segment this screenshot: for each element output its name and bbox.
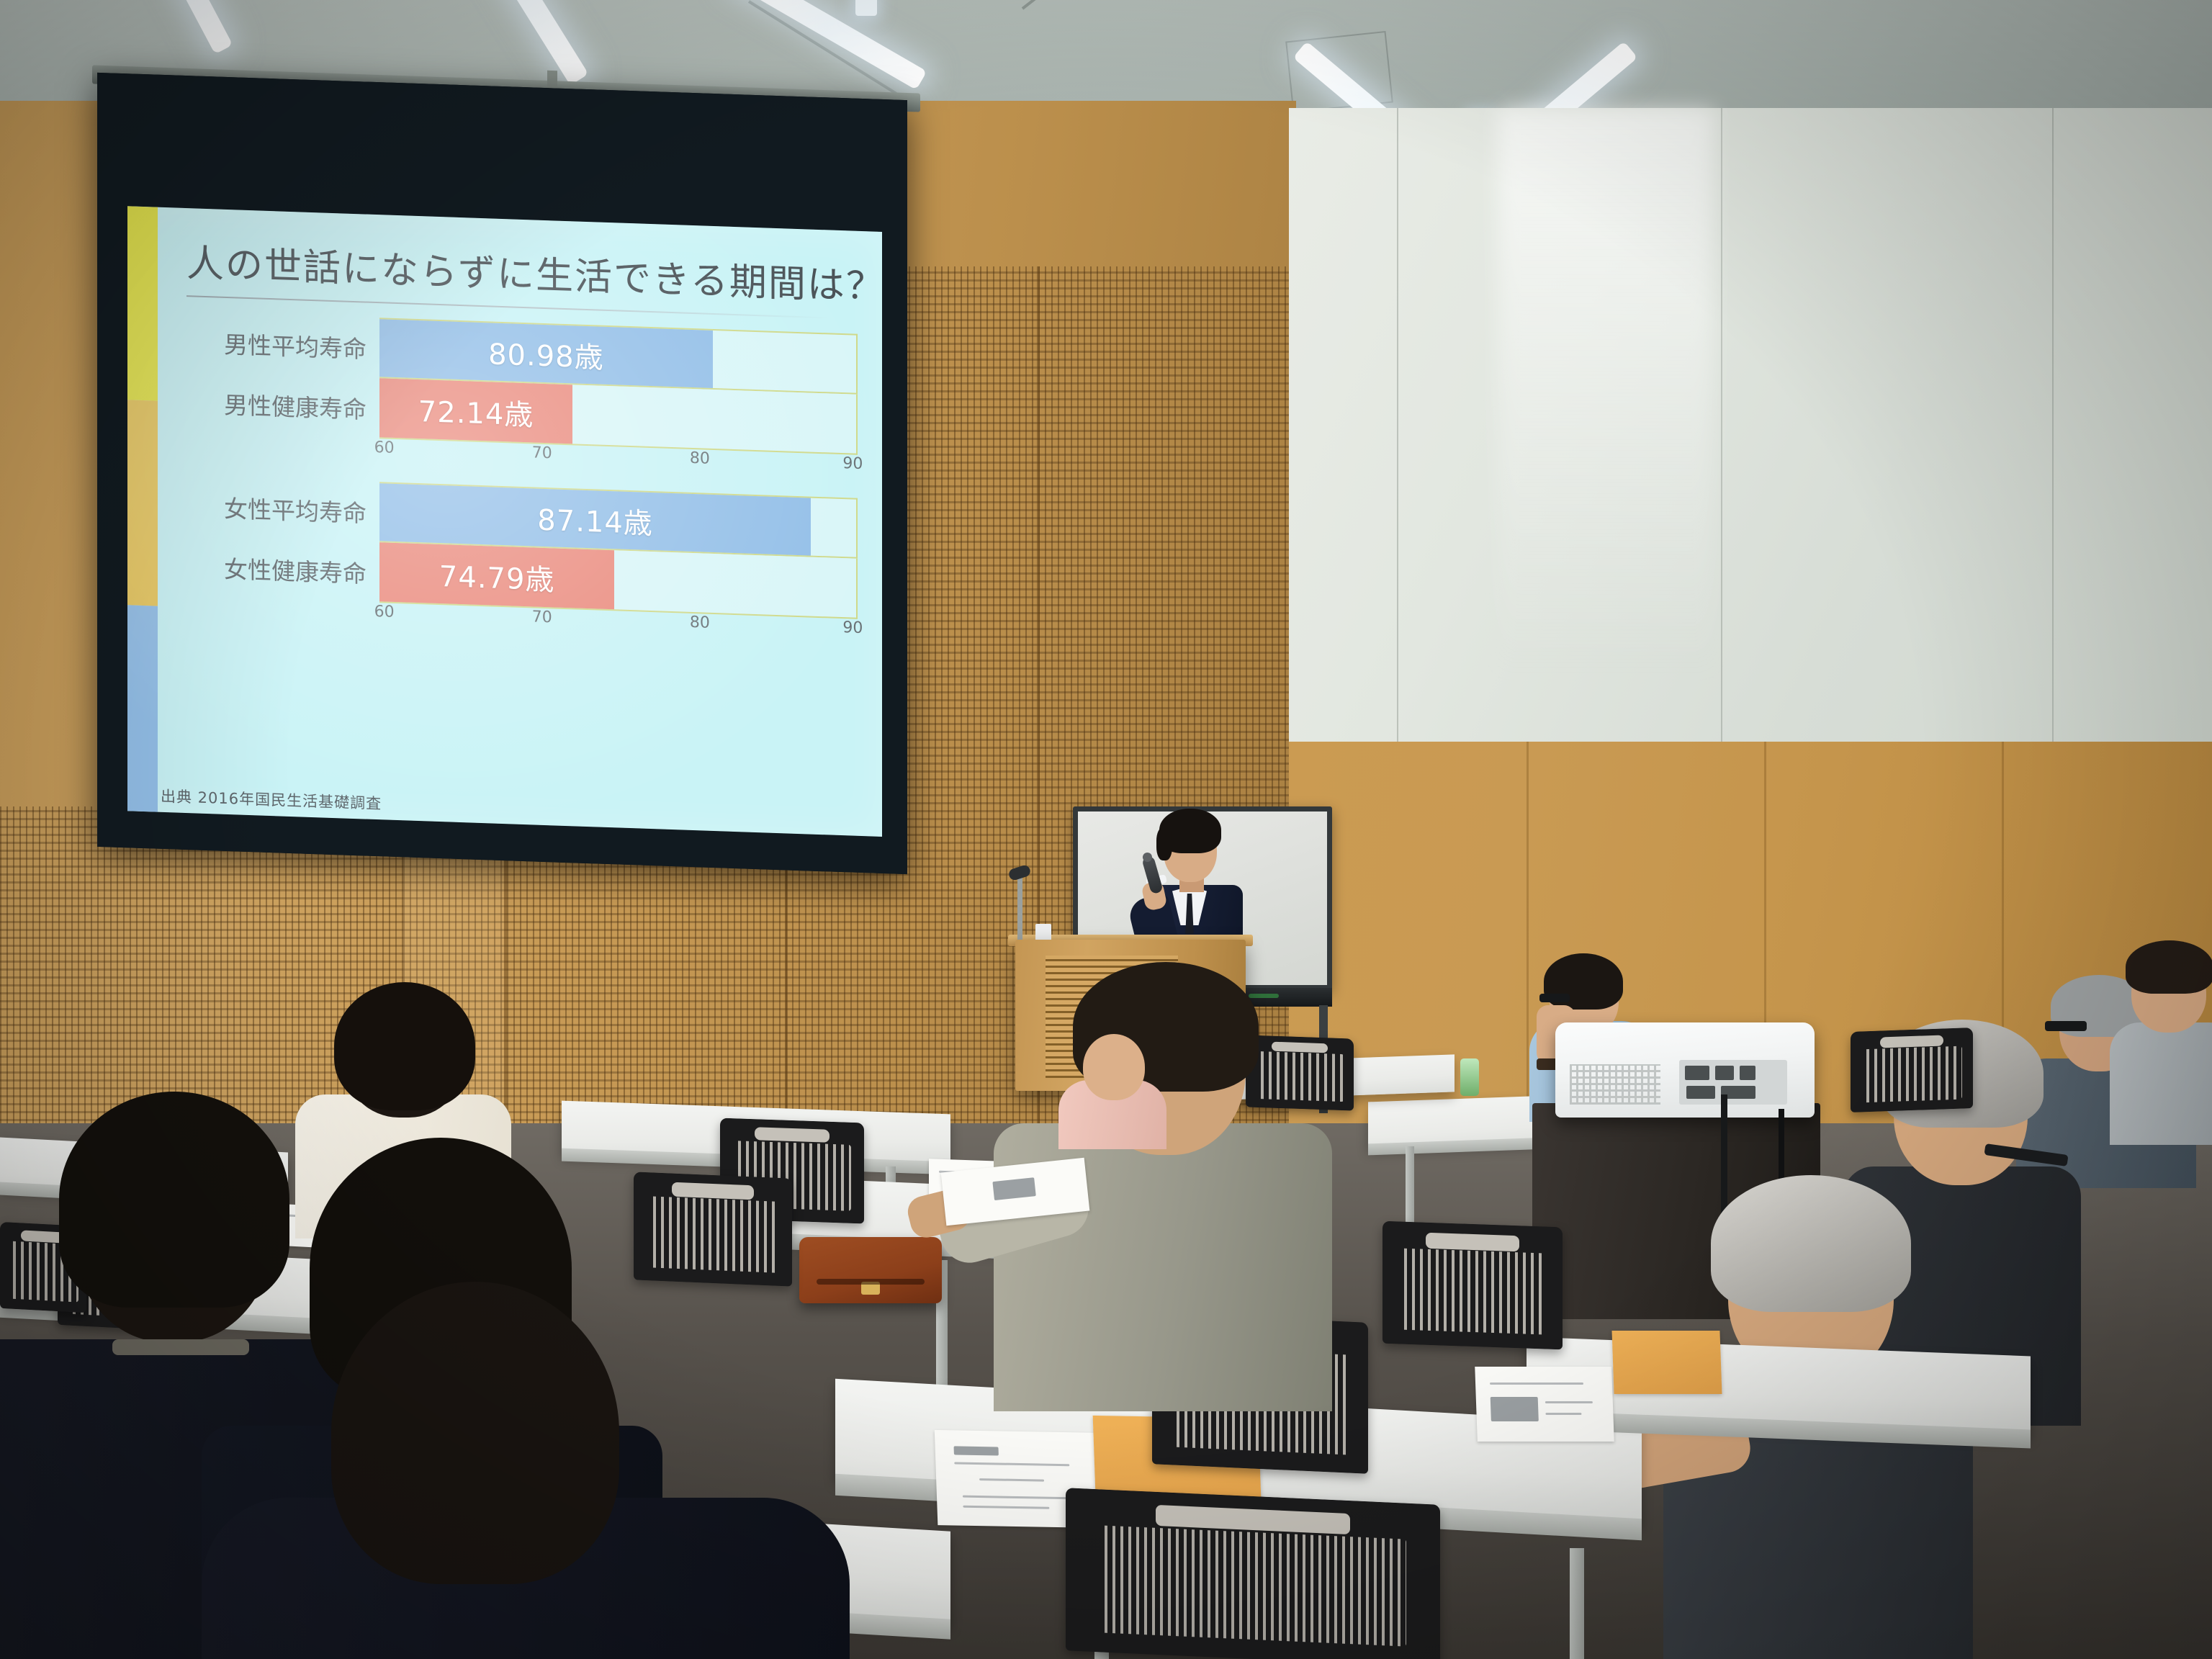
attendee-pink (1058, 1030, 1166, 1145)
x-tick-60b: 60 (374, 603, 395, 621)
x-tick-70b: 70 (532, 608, 552, 626)
bar-male-average: 80.98歳 (379, 319, 713, 388)
bar-value-male-average: 80.98歳 (488, 331, 604, 376)
x-tick-80: 80 (690, 449, 710, 468)
handout-paper-2 (1475, 1367, 1614, 1442)
attendee-right-far-hair (2126, 940, 2212, 994)
attendee-right-far (2110, 936, 2212, 1138)
attendee-right-front-hair (1711, 1175, 1911, 1312)
bar-male-healthy: 72.14歳 (379, 378, 572, 444)
slide-title: 人の世話にならずに生活できる期間は？ (186, 233, 858, 310)
x-tick-90: 90 (842, 454, 863, 473)
accent-segment-yellow (127, 206, 158, 400)
bar-female-healthy: 74.79歳 (379, 542, 614, 609)
accent-segment-gold (127, 400, 158, 606)
desk-leg-fg2 (1570, 1548, 1584, 1659)
chair-foreground-center (1066, 1488, 1440, 1659)
bar-value-male-healthy: 72.14歳 (418, 388, 534, 433)
bar-label-male-average: 男性平均寿命 (186, 311, 379, 378)
bar-label-male-healthy: 男性健康寿命 (186, 372, 379, 439)
chair-row2-b (1382, 1221, 1563, 1350)
handout-envelope-2 (1612, 1331, 1722, 1394)
x-tick-60: 60 (374, 439, 395, 457)
presenter-hair (1159, 809, 1221, 853)
bar-value-female-healthy: 74.79歳 (439, 553, 555, 598)
microphone-stand (1017, 877, 1022, 943)
drink-bottle-2 (1460, 1058, 1479, 1096)
chair-mid-right (1851, 1028, 1973, 1112)
glasses-icon (1539, 994, 1570, 1002)
slide-accent-bar (127, 206, 158, 811)
attendee-pink-head (1083, 1034, 1145, 1100)
x-tick-90b: 90 (842, 619, 863, 637)
accent-segment-blue (127, 606, 158, 812)
seminar-room-photo: 人の世話にならずに生活できる期間は？ 男性平均寿命 80.98歳 男性健康寿命 (0, 0, 2212, 1659)
right-wall-upper (1289, 108, 2212, 835)
bar-value-female-average: 87.14歳 (537, 497, 653, 542)
briefcase-clasp (861, 1282, 880, 1295)
attendee-foreground-bottom (202, 1282, 850, 1659)
bar-label-female-healthy: 女性健康寿命 (186, 536, 379, 603)
chart-female: 女性平均寿命 87.14歳 女性健康寿命 74.79歳 (186, 475, 858, 644)
x-tick-80b: 80 (690, 613, 710, 632)
projector-vent (1570, 1064, 1660, 1105)
attendee-foreground-bottom-head (331, 1282, 619, 1584)
projected-slide: 人の世話にならずに生活できる期間は？ 男性平均寿命 80.98歳 男性健康寿命 (127, 206, 882, 837)
attendee-right-far-torso (2110, 1022, 2212, 1145)
chart-male: 男性平均寿命 80.98歳 男性健康寿命 72.14歳 (186, 311, 858, 480)
projection-screen: 人の世話にならずに生活できる期間は？ 男性平均寿命 80.98歳 男性健康寿命 (97, 73, 907, 874)
bar-label-female-average: 女性平均寿命 (186, 475, 379, 542)
x-tick-70: 70 (532, 444, 552, 462)
